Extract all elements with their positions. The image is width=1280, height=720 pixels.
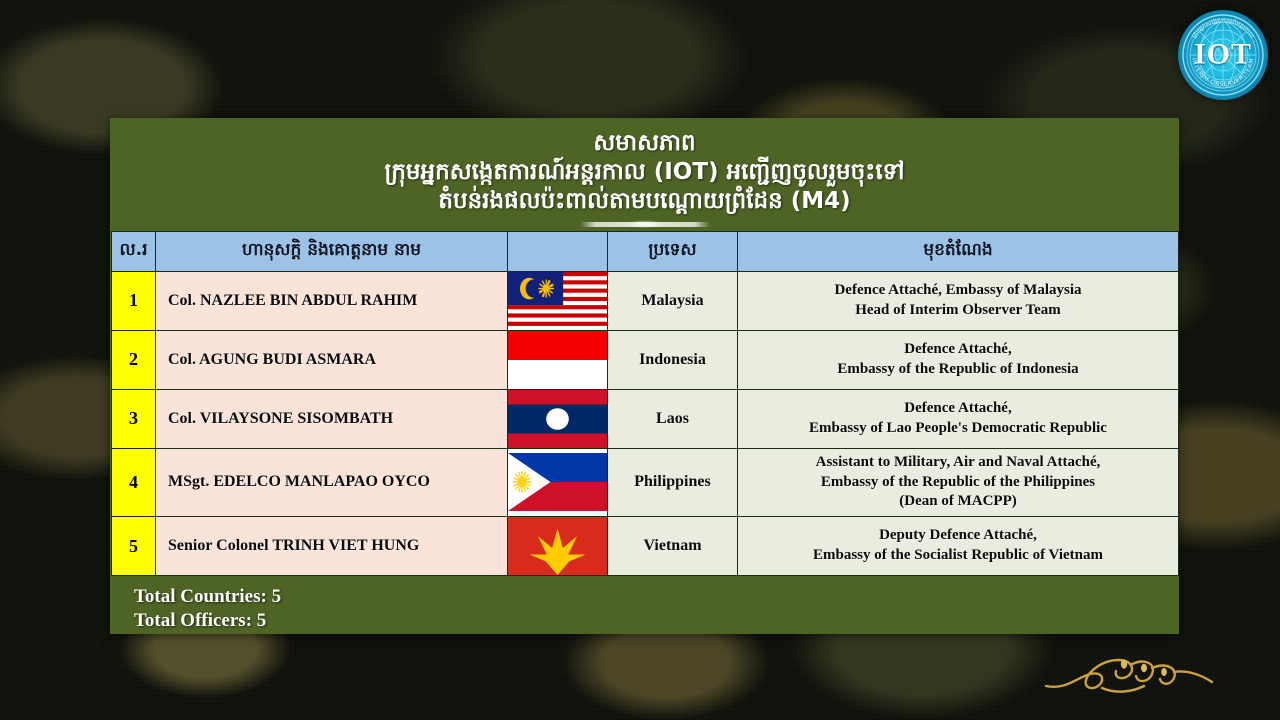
officer-position: Assistant to Military, Air and Naval Att… [738, 448, 1179, 516]
flag-malaysia-icon [508, 272, 607, 330]
title-divider [580, 222, 710, 227]
country-flag-cell [508, 389, 608, 448]
position-line: (Dean of MACPP) [746, 492, 1170, 512]
flag-laos-icon [508, 390, 607, 448]
table-header-row: ល.រ ហានុសក្តិ និងគោត្តនាម នាម ប្រទេស មុខ… [112, 231, 1179, 271]
officer-position: Defence Attaché, Embassy of Malaysia Hea… [738, 271, 1179, 330]
country-flag-cell [508, 517, 608, 576]
officer-name: Senior Colonel TRINH VIET HUNG [156, 517, 508, 576]
column-header-country[interactable]: ប្រទេស [608, 231, 738, 271]
page-title: សមាសភាព [128, 130, 1161, 157]
slide-canvas: ក្រុមអ្នកសង្កេតការណ៍អន្តរកាល INTERIM OBS… [0, 0, 1280, 720]
position-line: Embassy of the Socialist Republic of Vie… [746, 546, 1170, 566]
row-number: 5 [112, 517, 156, 576]
officers-table-body: 1 Col. NAZLEE BIN ABDUL RAHIM [112, 271, 1179, 575]
position-line: Defence Attaché, [746, 399, 1170, 419]
column-header-flag[interactable] [508, 231, 608, 271]
flag-vietnam-icon [508, 517, 607, 575]
position-line: Embassy of the Republic of the Philippin… [746, 473, 1170, 493]
officer-name: Col. AGUNG BUDI ASMARA [156, 330, 508, 389]
officer-name: MSgt. EDELCO MANLAPAO OYCO [156, 448, 508, 516]
table-row[interactable]: 3 Col. VILAYSONE SISOMBATH La [112, 389, 1179, 448]
officer-name: Col. NAZLEE BIN ABDUL RAHIM [156, 271, 508, 330]
country-flag-cell [508, 330, 608, 389]
country-name: Indonesia [608, 330, 738, 389]
title-block: សមាសភាព ក្រុមអ្នកសង្កេតការណ៍អន្តរកាល (IO… [110, 124, 1179, 227]
page-subtitle-2: តំបន់រងផលប៉ះពាល់តាមបណ្ដោយព្រំដែន (M4) [128, 188, 1161, 215]
officers-table: ល.រ ហានុសក្តិ និងគោត្តនាម នាម ប្រទេស មុខ… [111, 231, 1179, 576]
table-row[interactable]: 4 MSgt. EDELCO MANLAPAO OYCO [112, 448, 1179, 516]
flag-indonesia-icon [508, 331, 607, 389]
country-flag-cell [508, 271, 608, 330]
row-number: 1 [112, 271, 156, 330]
officer-position: Deputy Defence Attaché, Embassy of the S… [738, 517, 1179, 576]
country-flag-cell [508, 448, 608, 516]
table-row[interactable]: 2 Col. AGUNG BUDI ASMARA Indonesia [112, 330, 1179, 389]
row-number: 2 [112, 330, 156, 389]
officer-position: Defence Attaché, Embassy of Lao People's… [738, 389, 1179, 448]
page-subtitle-1: ក្រុមអ្នកសង្កេតការណ៍អន្តរកាល (IOT) អញ្ជើ… [128, 159, 1161, 186]
officers-table-wrapper: ល.រ ហានុសក្តិ និងគោត្តនាម នាម ប្រទេស មុខ… [110, 231, 1179, 576]
country-name: Laos [608, 389, 738, 448]
position-line: Deputy Defence Attaché, [746, 526, 1170, 546]
content-panel: សមាសភាព ក្រុមអ្នកសង្កេតការណ៍អន្តរកាល (IO… [110, 118, 1179, 634]
flag-philippines-icon [508, 453, 607, 511]
country-name: Malaysia [608, 271, 738, 330]
table-row[interactable]: 1 Col. NAZLEE BIN ABDUL RAHIM [112, 271, 1179, 330]
total-officers: Total Officers: 5 [134, 609, 1179, 633]
position-line: Assistant to Military, Air and Naval Att… [746, 453, 1170, 473]
row-number: 4 [112, 448, 156, 516]
officer-name: Col. VILAYSONE SISOMBATH [156, 389, 508, 448]
position-line: Defence Attaché, [746, 340, 1170, 360]
position-line: Head of Interim Observer Team [746, 301, 1170, 321]
position-line: Defence Attaché, Embassy of Malaysia [746, 281, 1170, 301]
total-countries: Total Countries: 5 [134, 585, 1179, 609]
logo-center-text: IOT [1178, 37, 1268, 71]
column-header-name[interactable]: ហានុសក្តិ និងគោត្តនាម នាម [156, 231, 508, 271]
iot-logo: ក្រុមអ្នកសង្កេតការណ៍អន្តរកាល INTERIM OBS… [1178, 10, 1268, 100]
column-header-position[interactable]: មុខតំណែង [738, 231, 1179, 271]
row-number: 3 [112, 389, 156, 448]
table-row[interactable]: 5 Senior Colonel TRINH VIET HUNG Vietnam [112, 517, 1179, 576]
khmer-calligraphy-watermark [1040, 644, 1220, 704]
totals-block: Total Countries: 5 Total Officers: 5 [110, 576, 1179, 633]
country-name: Vietnam [608, 517, 738, 576]
officer-position: Defence Attaché, Embassy of the Republic… [738, 330, 1179, 389]
position-line: Embassy of Lao People's Democratic Repub… [746, 419, 1170, 439]
country-name: Philippines [608, 448, 738, 516]
column-header-no[interactable]: ល.រ [112, 231, 156, 271]
position-line: Embassy of the Republic of Indonesia [746, 360, 1170, 380]
